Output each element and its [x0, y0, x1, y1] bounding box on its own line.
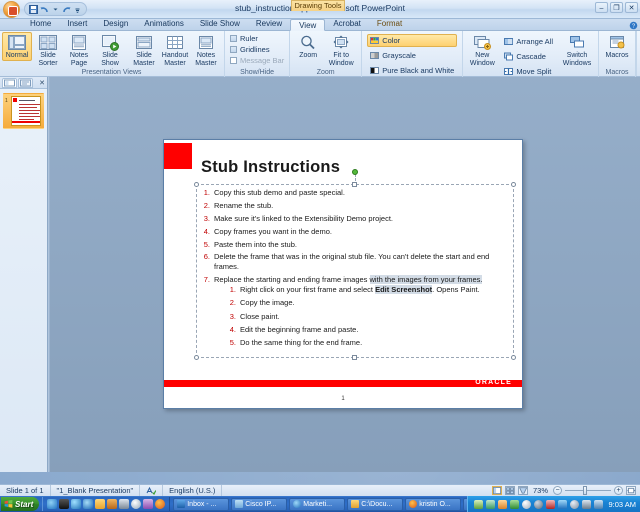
content-placeholder-selected[interactable]: 1. Copy this stub demo and paste special… [196, 184, 514, 358]
tab-slides[interactable] [2, 78, 17, 88]
ruler-checkbox-icon [230, 35, 237, 42]
outlook-icon [177, 500, 185, 508]
zoom-in-button[interactable]: + [614, 486, 623, 495]
arrange-all-icon [504, 37, 513, 46]
status-theme-name[interactable]: "1_Blank Presentation" [51, 485, 141, 497]
magnifier-icon [299, 34, 317, 51]
notes-master-label: Notes Master [192, 52, 220, 67]
color-label: Color [382, 36, 400, 45]
notes-page-button[interactable]: Notes Page [64, 32, 94, 68]
macros-button[interactable]: Macros [602, 32, 632, 61]
ribbon-group-presentation-views: Normal Slide Sorter Notes Page [0, 31, 225, 77]
tab-outline[interactable] [18, 78, 33, 88]
new-window-button[interactable]: New Window [466, 32, 498, 68]
zoom-slider-thumb[interactable] [583, 486, 587, 495]
notes-master-icon [197, 34, 215, 51]
list-item[interactable]: 7. Replace the starting and ending frame… [201, 275, 509, 347]
list-number: 6. [201, 252, 214, 262]
tab-acrobat[interactable]: Acrobat [325, 18, 369, 30]
taskbar-item-label: Inbox - ... [187, 501, 216, 508]
fit-to-window-label: Fit to Window [325, 52, 357, 67]
ie-icon[interactable] [47, 499, 57, 509]
taskbar-window-list: Inbox - ... Cisco IP... Marketi... C:\Do… [170, 498, 467, 511]
list-item[interactable]: 4. Edit the beginning frame and paste. [229, 325, 509, 335]
tab-insert[interactable]: Insert [59, 18, 95, 30]
list-text: Delete the frame that was in the origina… [214, 252, 509, 271]
network-icon[interactable] [486, 500, 495, 509]
normal-view-label: Normal [6, 52, 29, 60]
list-text-highlight: with the images from your frames. [370, 275, 483, 284]
taskbar-item[interactable]: Marketi... [289, 498, 345, 511]
switch-windows-icon [568, 34, 586, 51]
fit-to-window-button[interactable]: Fit to Window [324, 32, 358, 68]
taskbar-item-label: Cisco IP... [245, 501, 276, 508]
normal-view-icon [8, 34, 26, 51]
sub-list-text: Do the same thing for the end frame. [240, 338, 362, 348]
slide-page-number: 1 [164, 396, 522, 402]
instruction-list: 1. Copy this stub demo and paste special… [197, 185, 513, 347]
color-option[interactable]: Color [367, 34, 457, 47]
slide-footer-bar [164, 380, 522, 387]
tab-design[interactable]: Design [95, 18, 136, 30]
status-slide-count: Slide 1 of 1 [0, 485, 51, 497]
resize-handle-top-center[interactable] [352, 182, 357, 187]
slide-master-label: Slide Master [130, 52, 158, 67]
minimize-button[interactable]: – [595, 2, 608, 13]
taskbar-item[interactable]: kristin O... [405, 498, 461, 511]
slide-editing-surface[interactable]: Stub Instructions 1. Copy this stub demo [48, 77, 640, 472]
circle-icon[interactable] [522, 500, 531, 509]
sub-list-number: 2. [229, 298, 240, 308]
cisco-icon [235, 500, 243, 508]
tab-animations[interactable]: Animations [136, 18, 192, 30]
start-button[interactable]: Start [1, 497, 39, 511]
firefox-icon[interactable] [155, 499, 165, 509]
sub-list-text: Close paint. [240, 312, 280, 322]
thumbnail-red-bar [12, 121, 40, 123]
macros-label: Macros [606, 52, 629, 60]
ie-icon [293, 500, 301, 508]
tab-view[interactable]: View [290, 19, 325, 31]
title-bar: stub_instructions.pptx - Microsoft Power… [0, 0, 640, 19]
spellcheck-icon[interactable] [140, 485, 163, 497]
sub-text-pre: Right click on your first frame and sele… [240, 285, 375, 294]
contextual-tab-group-label: Drawing Tools [291, 0, 345, 11]
list-number: 7. [201, 275, 214, 285]
status-zoom-level[interactable]: 73% [531, 486, 550, 495]
sub-text-post: . Opens Paint. [432, 285, 480, 294]
taskbar-item[interactable]: C:\Docu... [347, 498, 403, 511]
list-text: Make sure it's linked to the Extensibili… [214, 214, 393, 224]
thumbnail-preview [11, 96, 41, 126]
list-item[interactable]: 5. Paste them into the stub. [201, 240, 509, 250]
grayscale-icon [370, 51, 379, 60]
list-text: Replace the starting and ending frame im… [214, 275, 482, 285]
hourglass-icon[interactable] [119, 499, 129, 509]
sub-list-number: 4. [229, 325, 240, 335]
zoom-slider[interactable] [565, 486, 611, 495]
sub-list-number: 5. [229, 338, 240, 348]
shield-icon[interactable] [474, 500, 483, 509]
restore-button[interactable]: ❐ [610, 2, 623, 13]
taskbar-item-label: Marketi... [303, 501, 332, 508]
users-icon[interactable] [510, 500, 519, 509]
sub-list-text: Edit the beginning frame and paste. [240, 325, 358, 335]
sync-icon[interactable] [498, 500, 507, 509]
handout-master-icon [166, 34, 184, 51]
notes-master-button[interactable]: Notes Master [191, 32, 221, 68]
cascade-label: Cascade [516, 52, 546, 61]
folder-icon[interactable] [95, 499, 105, 509]
status-right-controls: 73% − + [492, 486, 640, 495]
list-item[interactable]: 5. Do the same thing for the end frame. [229, 338, 509, 348]
cascade-icon [504, 52, 513, 61]
sub-list-number: 1. [229, 285, 240, 295]
system-tray: 9:03 AM [467, 496, 640, 512]
pane-splitter[interactable] [48, 77, 50, 472]
status-slide-show-icon[interactable] [518, 486, 528, 495]
ribbon-group-zoom: Zoom Fit to Window Zoom [290, 31, 362, 77]
sub-text-bold: Edit Screenshot [375, 285, 432, 294]
taskbar-item[interactable]: Cisco IP... [231, 498, 287, 511]
slide-canvas[interactable]: Stub Instructions 1. Copy this stub demo [163, 139, 523, 409]
pure-black-white-option[interactable]: Pure Black and White [367, 64, 457, 77]
ribbon-group-color-grayscale: Color Grayscale Pure Black and White [362, 31, 463, 77]
thumbnail-number: 1 [5, 98, 8, 104]
thumbnail-pane-tabs: ✕ [0, 77, 47, 89]
switch-windows-label: Switch Windows [560, 52, 594, 67]
folder-icon [351, 500, 359, 508]
move-split-icon [504, 67, 513, 76]
volume-icon[interactable] [594, 500, 603, 509]
group-label-presentation-views: Presentation Views [82, 68, 142, 77]
slide-master-icon [135, 34, 153, 51]
group-label-zoom: Zoom [317, 68, 335, 77]
normal-view-button[interactable]: Normal [2, 32, 32, 61]
resize-handle-top-right[interactable] [511, 182, 516, 187]
gridlines-label: Gridlines [240, 45, 270, 54]
slide-master-button[interactable]: Slide Master [129, 32, 159, 68]
battery-icon[interactable] [558, 500, 567, 509]
fit-slide-to-window-icon[interactable] [626, 486, 636, 495]
list-item[interactable]: 6. Delete the frame that was in the orig… [201, 252, 509, 271]
window-controls: – ❐ ✕ [595, 2, 638, 13]
handout-master-button[interactable]: Handout Master [160, 32, 190, 68]
new-window-icon [473, 34, 491, 51]
grayscale-option[interactable]: Grayscale [367, 49, 457, 62]
taskbar-item-label: C:\Docu... [361, 501, 392, 508]
taskbar-item[interactable]: Inbox - ... [173, 498, 229, 511]
close-pane-icon[interactable]: ✕ [39, 79, 45, 87]
message-bar-checkbox-icon [230, 57, 237, 64]
ribbon-group-macros: Macros Macros [599, 31, 636, 77]
resize-handle-top-left[interactable] [194, 182, 199, 187]
ribbon-group-window: New Window Arrange All Cascade [463, 31, 599, 77]
pure-black-white-icon [370, 66, 379, 75]
arrange-all-label: Arrange All [516, 37, 553, 46]
sub-instruction-list: 1. Right click on your first frame and s… [201, 285, 509, 347]
resize-handle-bottom-center[interactable] [352, 355, 357, 360]
rotation-handle[interactable] [352, 169, 358, 175]
quick-launch-bar [42, 497, 170, 511]
windows-flag-icon [4, 500, 13, 508]
list-item[interactable]: 2. Rename the stub. [201, 201, 509, 211]
list-item[interactable]: 1. Copy this stub demo and paste special… [201, 188, 509, 198]
slide-sorter-icon [39, 34, 57, 51]
tab-review[interactable]: Review [248, 18, 290, 30]
zoom-button[interactable]: Zoom [293, 32, 323, 61]
checkbox-gridlines[interactable]: Gridlines [230, 45, 284, 54]
shield2-icon[interactable] [546, 500, 555, 509]
group-label-show-hide: Show/Hide [240, 68, 274, 77]
slide-show-button[interactable]: Slide Show [95, 32, 125, 68]
ribbon-tab-strip: Home Insert Design Animations Slide Show… [0, 19, 640, 31]
sub-list-text: Copy the image. [240, 298, 295, 308]
sub-list-text: Right click on your first frame and sele… [240, 285, 480, 295]
list-text: Copy this stub demo and paste special. [214, 188, 345, 198]
media-icon[interactable] [59, 499, 69, 509]
slide-show-label: Slide Show [96, 52, 124, 67]
close-button[interactable]: ✕ [625, 2, 638, 13]
status-language[interactable]: English (U.S.) [163, 485, 222, 497]
work-area: ✕ 1 St [0, 77, 640, 472]
help-icon[interactable]: ? [626, 20, 640, 30]
list-item[interactable]: 1. Right click on your first frame and s… [229, 285, 509, 295]
slide-decoration-red-square [164, 143, 192, 169]
ribbon-group-show-hide: Ruler Gridlines Message Bar Show/Hide [225, 31, 290, 77]
list-text: Copy frames you want in the demo. [214, 227, 332, 237]
list-number: 2. [201, 201, 214, 211]
arrange-all-option[interactable]: Arrange All [501, 35, 556, 48]
checkbox-message-bar: Message Bar [230, 56, 284, 65]
zoom-label: Zoom [299, 52, 317, 60]
new-window-label: New Window [467, 52, 497, 67]
taskbar-item-label: kristin O... [419, 501, 451, 508]
thumbnail-red-square [13, 98, 17, 102]
status-normal-view-icon[interactable] [492, 486, 502, 495]
list-text: Rename the stub. [214, 201, 273, 211]
checkbox-ruler[interactable]: Ruler [230, 34, 284, 43]
oracle-logo: ORACLE [475, 379, 512, 386]
slide-thumbnail-pane: ✕ 1 [0, 77, 48, 472]
message-bar-label: Message Bar [240, 56, 284, 65]
slide-sorter-label: Slide Sorter [34, 52, 62, 67]
lock-icon[interactable] [143, 499, 153, 509]
slide-title[interactable]: Stub Instructions [201, 158, 340, 177]
list-text-pre: Replace the starting and ending frame im… [214, 275, 370, 284]
macros-icon [608, 34, 626, 51]
start-label: Start [15, 500, 33, 509]
thumbnail-slide-1[interactable]: 1 [3, 93, 44, 129]
switch-windows-button[interactable]: Switch Windows [559, 32, 595, 68]
resize-handle-bottom-left[interactable] [194, 355, 199, 360]
disc-icon[interactable] [570, 500, 579, 509]
app-icon[interactable] [107, 499, 117, 509]
list-text: Paste them into the stub. [214, 240, 297, 250]
ruler-label: Ruler [240, 34, 258, 43]
tab-home[interactable]: Home [22, 18, 59, 30]
monitor-icon[interactable] [582, 500, 591, 509]
gridlines-checkbox-icon [230, 46, 237, 53]
tab-format[interactable]: Format [369, 18, 410, 30]
status-slide-sorter-icon[interactable] [505, 486, 515, 495]
status-bar: Slide 1 of 1 "1_Blank Presentation" Engl… [0, 484, 640, 496]
windows-taskbar: Start Inbox - ... Cisco IP... [0, 496, 640, 512]
handout-master-label: Handout Master [161, 52, 189, 67]
slide-show-icon [101, 34, 119, 51]
group-label-macros: Macros [606, 68, 629, 77]
tab-slide-show[interactable]: Slide Show [192, 18, 248, 30]
notes-page-icon [70, 34, 88, 51]
sub-list-number: 3. [229, 312, 240, 322]
resize-handle-bottom-right[interactable] [511, 355, 516, 360]
list-item[interactable]: 2. Copy the image. [229, 298, 509, 308]
cascade-option[interactable]: Cascade [501, 50, 556, 63]
slide-sorter-button[interactable]: Slide Sorter [33, 32, 63, 68]
zoom-out-button[interactable]: − [553, 486, 562, 495]
fit-to-window-icon [332, 34, 350, 51]
clock-icon[interactable] [131, 499, 141, 509]
grayscale-label: Grayscale [382, 51, 416, 60]
ribbon: Normal Slide Sorter Notes Page [0, 31, 640, 77]
list-item[interactable]: 4. Copy frames you want in the demo. [201, 227, 509, 237]
gear-icon[interactable] [534, 500, 543, 509]
network-icon[interactable] [71, 499, 81, 509]
list-number: 4. [201, 227, 214, 237]
move-split-label: Move Split [516, 67, 551, 76]
powerpoint-window: stub_instructions.pptx - Microsoft Power… [0, 0, 640, 484]
notes-page-label: Notes Page [65, 52, 93, 67]
list-number: 5. [201, 240, 214, 250]
pure-black-white-label: Pure Black and White [382, 66, 454, 75]
firefox-icon [409, 500, 417, 508]
system-clock[interactable]: 9:03 AM [606, 500, 636, 509]
list-number: 3. [201, 214, 214, 224]
list-number: 1. [201, 188, 214, 198]
list-item[interactable]: 3. Make sure it's linked to the Extensib… [201, 214, 509, 224]
explorer-icon[interactable] [83, 499, 93, 509]
list-item[interactable]: 3. Close paint. [229, 312, 509, 322]
color-icon [370, 36, 379, 45]
